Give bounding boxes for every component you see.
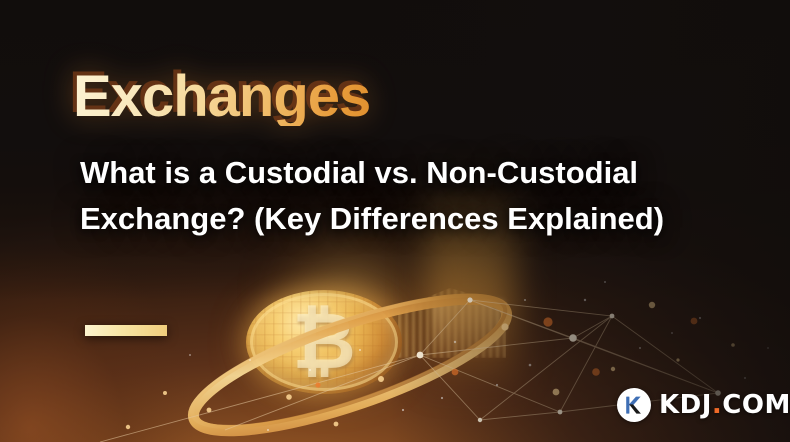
logo-separator-dot: .	[712, 392, 722, 418]
article-headline: What is a Custodial vs. Non-Custodial Ex…	[80, 150, 680, 241]
category-title: Exchanges	[73, 68, 370, 126]
site-logo[interactable]: KDJ.COM	[617, 388, 790, 422]
kdj-k-monogram-icon	[617, 388, 651, 422]
logo-text-kdj: KDJ	[659, 392, 712, 418]
accent-bar	[85, 325, 167, 336]
logo-wordmark: KDJ.COM	[659, 392, 790, 418]
article-hero-banner: ₿	[0, 0, 790, 442]
logo-text-com: COM	[722, 392, 790, 418]
